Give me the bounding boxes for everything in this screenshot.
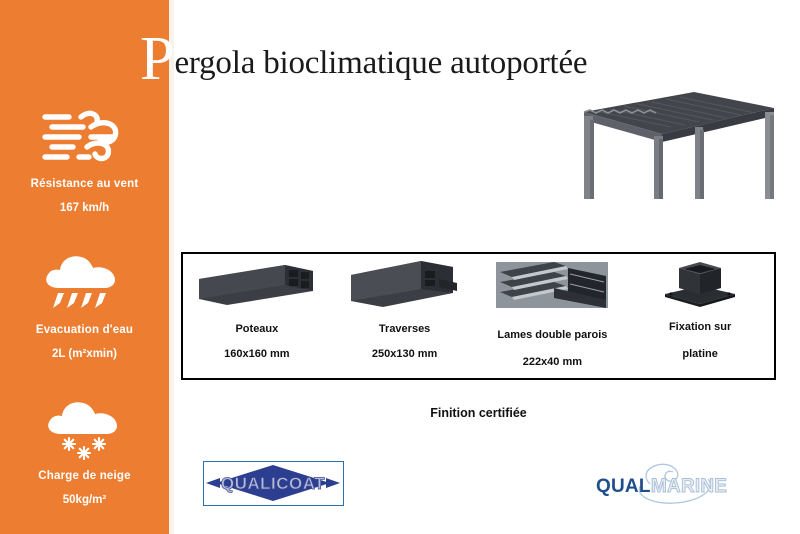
product-poteaux-name: Poteaux xyxy=(235,322,278,336)
spec-wind-value: 167 km/h xyxy=(0,202,169,214)
spec-wind-label: Résistance au vent xyxy=(0,178,169,190)
product-fixation-name: Fixation sur xyxy=(669,320,731,334)
louvre-blades-icon xyxy=(496,258,608,312)
spec-water-value: 2L (m²xmin) xyxy=(0,348,169,360)
pergola-product-sheet: Résistance au vent 167 km/h Evacuation d… xyxy=(0,0,800,534)
page-title: P ergola bioclimatique autoportée xyxy=(140,26,780,86)
product-fixation: Fixation sur platine xyxy=(626,254,774,378)
product-poteaux: Poteaux 160x160 mm xyxy=(183,254,331,378)
svg-text:QUALI: QUALI xyxy=(596,476,656,497)
svg-text:MARINE: MARINE xyxy=(651,476,727,497)
page-title-text: ergola bioclimatique autoportée xyxy=(174,43,587,83)
product-traverses: Traverses 250x130 mm xyxy=(331,254,479,378)
spec-wind: Résistance au vent 167 km/h xyxy=(0,100,169,214)
snow-cloud-icon xyxy=(0,392,169,464)
base-plate-icon xyxy=(655,258,745,312)
product-lames: Lames double parois 222x40 mm xyxy=(479,254,627,378)
product-fixation-size: platine xyxy=(682,348,717,360)
pergola-hero-image xyxy=(566,86,782,204)
spec-snow: Charge de neige 50kg/m² xyxy=(0,392,169,506)
svg-text:QUALICOAT: QUALICOAT xyxy=(221,474,325,493)
spec-water-label: Evacuation d'eau xyxy=(0,324,169,336)
wind-icon xyxy=(0,100,169,172)
qualicoat-logo: QUALICOAT xyxy=(203,461,344,506)
spec-water: Evacuation d'eau 2L (m²xmin) xyxy=(0,246,169,360)
product-lames-size: 222x40 mm xyxy=(523,356,582,368)
post-profile-icon xyxy=(197,258,317,312)
spec-snow-value: 50kg/m² xyxy=(0,494,169,506)
product-lames-name: Lames double parois xyxy=(497,328,607,342)
product-traverses-size: 250x130 mm xyxy=(372,348,437,360)
qualimarine-logo: QUALI MARINE xyxy=(588,462,740,506)
product-poteaux-size: 160x160 mm xyxy=(224,348,289,360)
beam-profile-icon xyxy=(345,258,465,312)
page-title-dropcap: P xyxy=(140,30,174,88)
rain-cloud-icon xyxy=(0,246,169,318)
product-specs-box: Poteaux 160x160 mm Traverses 250x130 mm xyxy=(181,252,776,380)
product-traverses-name: Traverses xyxy=(379,322,430,336)
certification-title: Finition certifiée xyxy=(181,406,776,420)
spec-snow-label: Charge de neige xyxy=(0,470,169,482)
